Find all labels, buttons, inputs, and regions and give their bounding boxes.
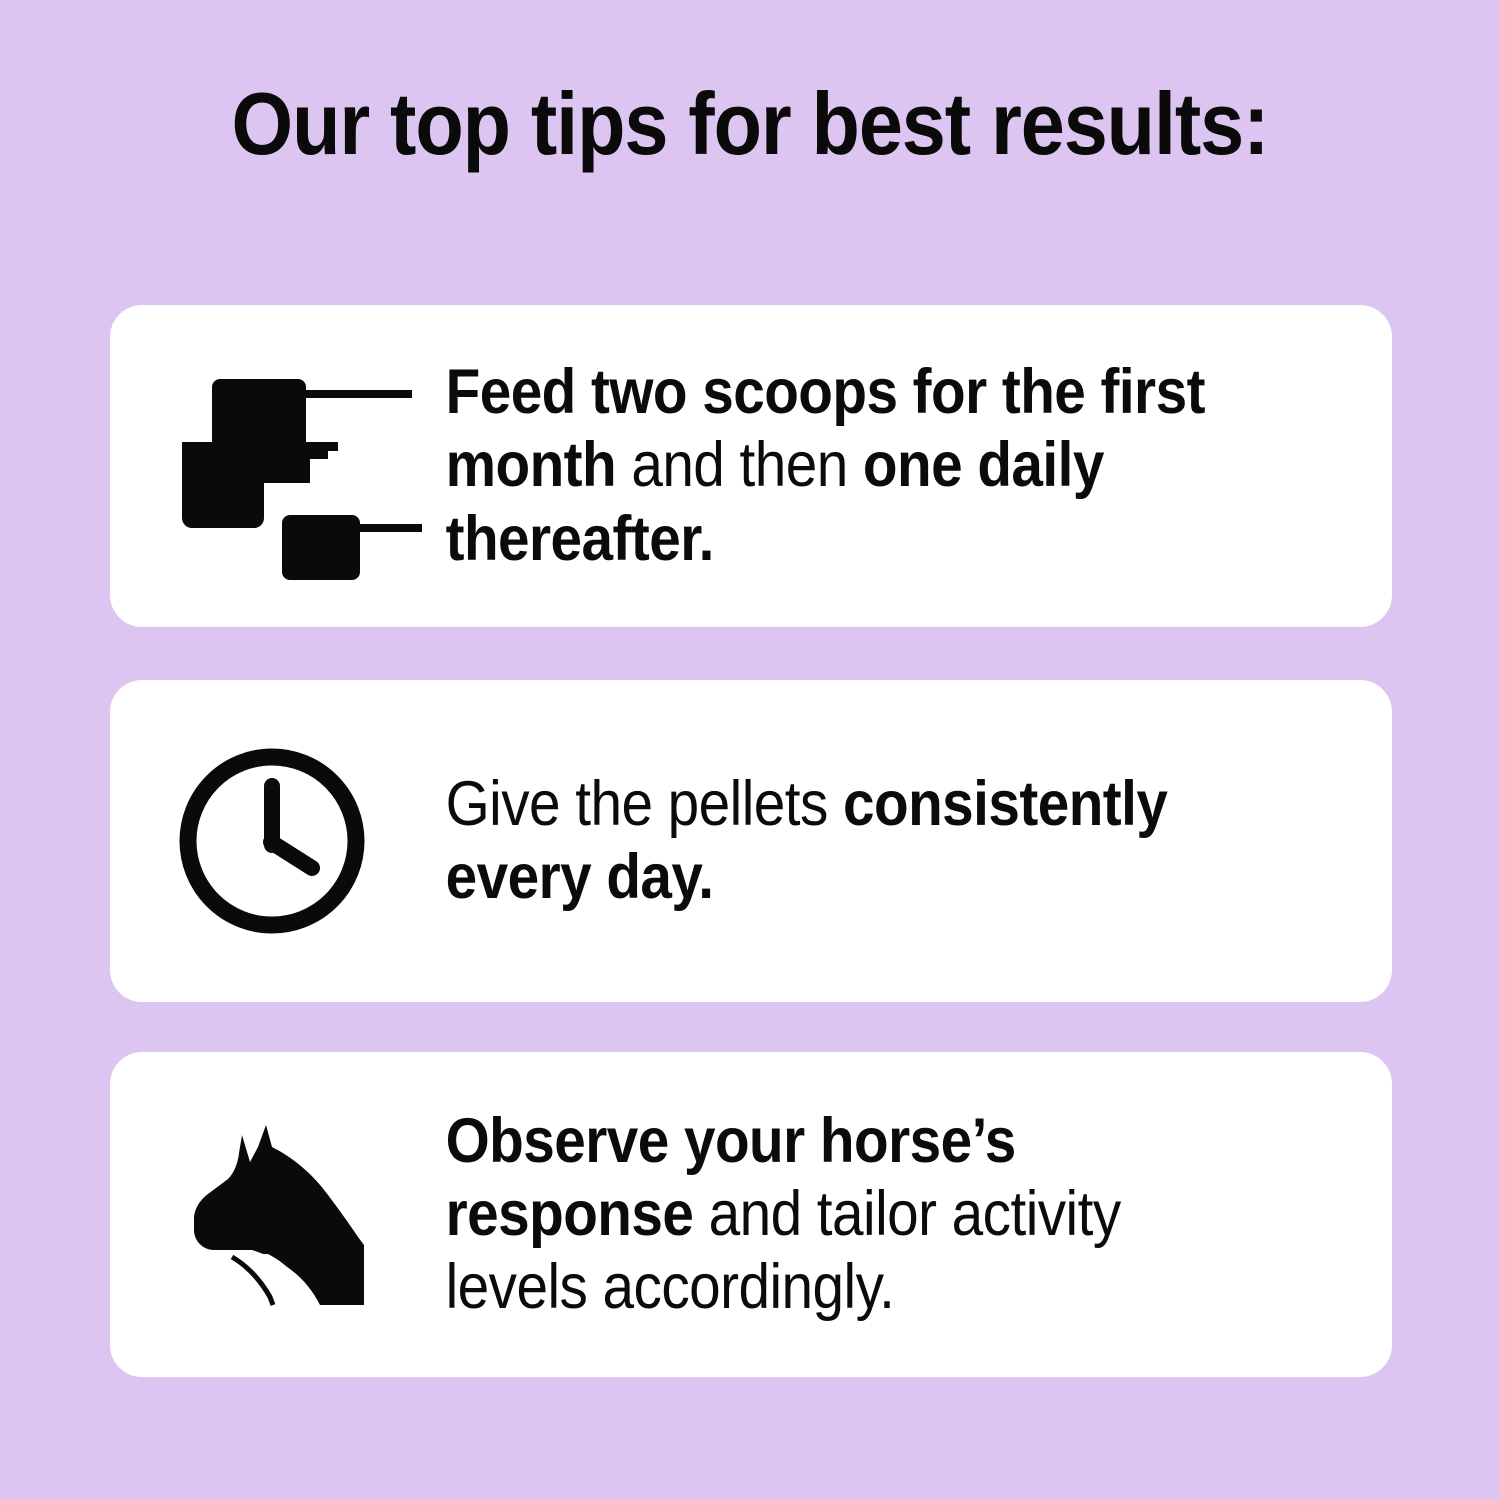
tip-icon-container <box>162 1107 442 1322</box>
tips-page: Our top tips for best results: <box>0 0 1500 1500</box>
tip-text-segment-regular: Give the pellets <box>446 769 843 839</box>
horse-head-icon <box>172 1107 387 1322</box>
tip-text-consistency: Give the pellets consistently every day. <box>442 768 1261 914</box>
tip-card-observation[interactable]: Observe your horse’s response and tailor… <box>110 1052 1392 1377</box>
tip-text-observation: Observe your horse’s response and tailor… <box>442 1105 1261 1324</box>
scoops-icon <box>172 351 422 581</box>
page-title: Our top tips for best results: <box>75 78 1425 170</box>
tip-card-consistency[interactable]: Give the pellets consistently every day. <box>110 680 1392 1002</box>
clock-icon <box>172 741 372 941</box>
tip-text-segment-regular: and then <box>616 430 863 500</box>
tips-card-list: Feed two scoops for the first month and … <box>110 305 1392 1377</box>
tip-icon-container <box>162 741 442 941</box>
tip-text-feeding: Feed two scoops for the first month and … <box>442 356 1261 575</box>
tip-card-feeding[interactable]: Feed two scoops for the first month and … <box>110 305 1392 627</box>
tip-icon-container <box>162 351 442 581</box>
